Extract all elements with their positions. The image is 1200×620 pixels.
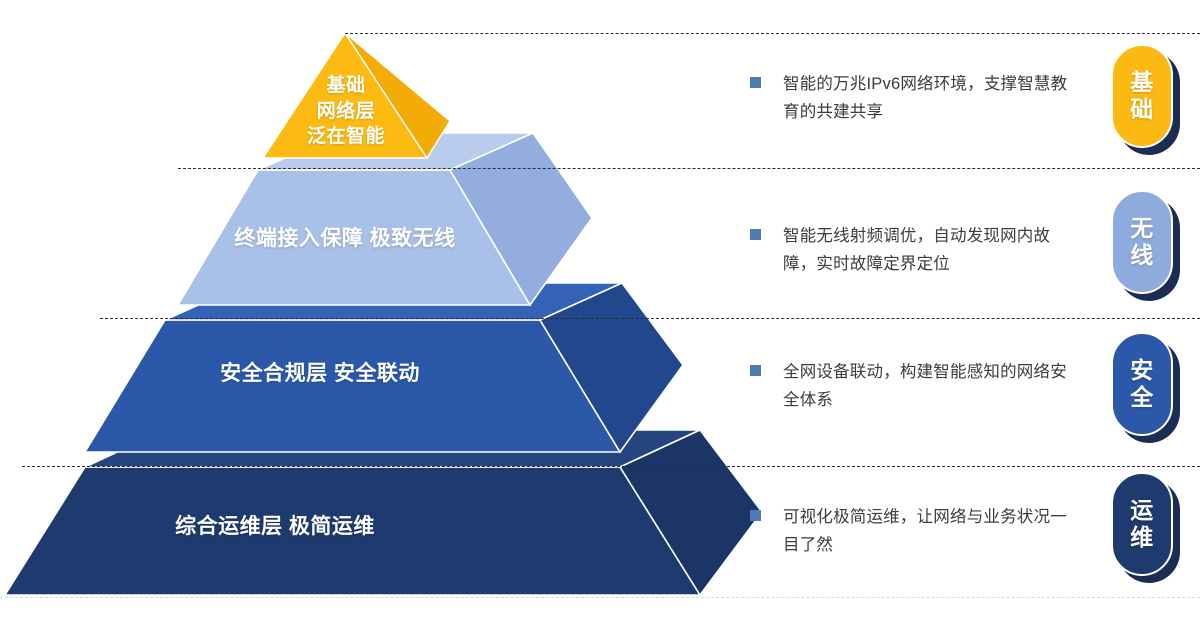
badge-pill: 安 全 [1111,332,1173,436]
badge-pill: 无 线 [1111,190,1173,294]
separator-line-baseline [0,597,1200,598]
pyramid-label-foundation: 基础 网络层 泛在智能 [283,73,409,150]
badge-pill: 基 础 [1111,44,1173,148]
separator-line-3 [100,318,1200,319]
bullet-square-icon [750,229,761,240]
bullet-square-icon [750,77,761,88]
description-item-foundation: 智能的万兆IPv6网络环境，支撑智慧教育的共建共享 [750,70,1080,127]
badge-security: 安 全 [1111,332,1179,440]
badge-wireless: 无 线 [1111,190,1179,298]
description-text: 智能无线射频调优，自动发现网内故障，实时故障定界定位 [783,222,1080,279]
bullet-square-icon [750,510,761,521]
separator-line-1 [345,33,1200,34]
description-item-security: 全网设备联动，构建智能感知的网络安全体系 [750,358,1080,415]
badge-label: 安 全 [1130,357,1154,411]
badge-pill: 运 维 [1111,472,1173,576]
description-item-wireless: 智能无线射频调优，自动发现网内故障，实时故障定界定位 [750,222,1080,279]
pyramid-label-wireless: 终端接入保障 极致无线 [160,225,530,252]
separator-line-2 [178,168,1200,169]
bullet-square-icon [750,365,761,376]
badge-foundation: 基 础 [1111,44,1179,152]
description-text: 智能的万兆IPv6网络环境，支撑智慧教育的共建共享 [783,70,1080,127]
description-item-operations: 可视化极简运维，让网络与业务状况一目了然 [750,503,1080,560]
separator-line-4 [22,466,1200,467]
description-text: 可视化极简运维，让网络与业务状况一目了然 [783,503,1080,560]
badge-label: 无 线 [1130,215,1154,269]
badge-label: 基 础 [1130,69,1154,123]
diagram-canvas: 基础 网络层 泛在智能 终端接入保障 极致无线 安全合规层 安全联动 综合运维层… [0,0,1200,620]
description-text: 全网设备联动，构建智能感知的网络安全体系 [783,358,1080,415]
pyramid-label-security: 安全合规层 安全联动 [110,360,530,387]
badge-operations: 运 维 [1111,472,1179,580]
badge-label: 运 维 [1130,497,1154,551]
pyramid-label-operations: 综合运维层 极简运维 [30,513,520,540]
